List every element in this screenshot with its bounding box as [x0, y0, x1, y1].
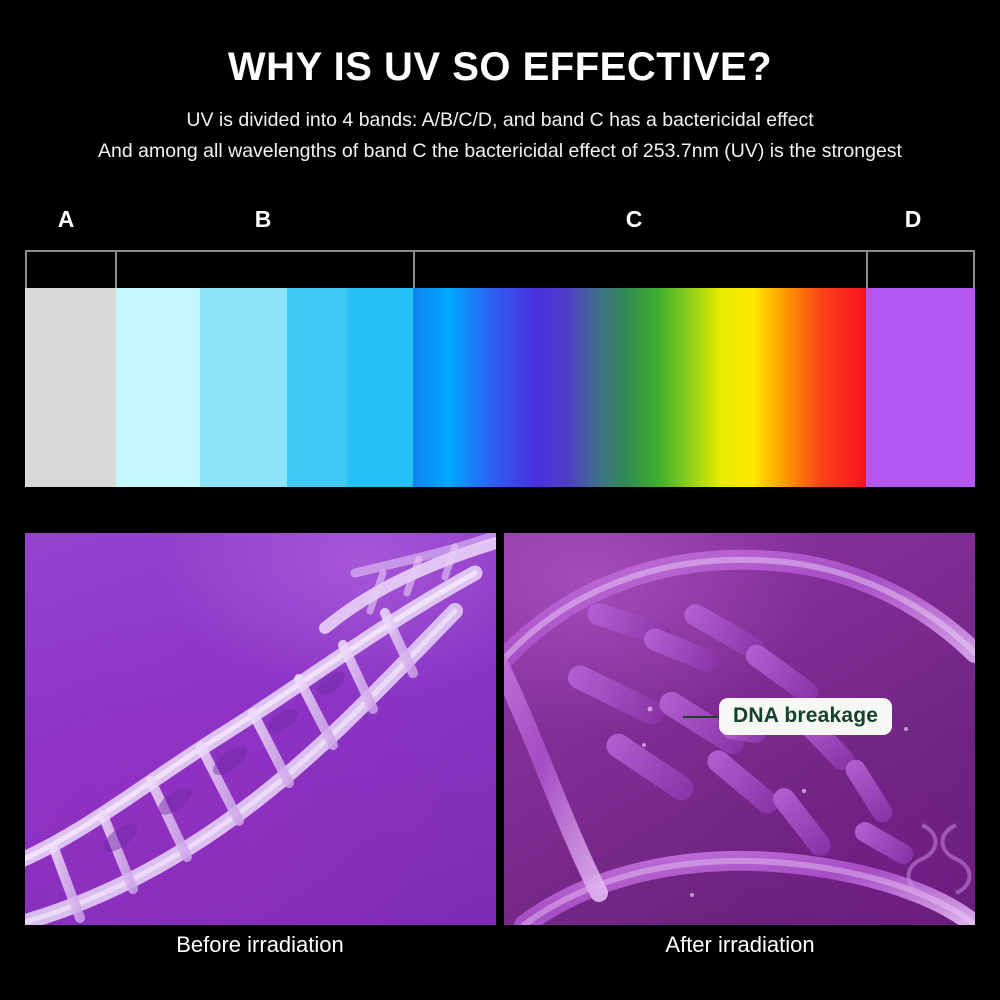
band-cell-a [25, 252, 115, 290]
caption-after-irradiation: After irradiation [665, 932, 814, 958]
spectrum-segment-uvb-bright-blue [347, 288, 413, 487]
panel-before-irradiation [25, 533, 496, 925]
subtitle-line-1: UV is divided into 4 bands: A/B/C/D, and… [0, 88, 1000, 134]
spectrum-segment-uva-gray [25, 288, 116, 487]
subtitle-line-2: And among all wavelengths of band C the … [0, 134, 1000, 165]
band-label-c: C [626, 206, 643, 233]
spectrum-segment-uvb-sky-blue [287, 288, 347, 487]
spectrum-segment-uvd-purple [866, 288, 975, 487]
band-label-row: ABCD [0, 206, 1000, 244]
band-cell-b [115, 252, 413, 290]
band-bracket-frame [25, 250, 975, 288]
band-label-a: A [58, 206, 75, 233]
band-cell-d [866, 252, 975, 290]
band-cell-c [413, 252, 866, 290]
page-title: WHY IS UV SO EFFECTIVE? [0, 0, 1000, 88]
spectrum-segment-uvb-pale-cyan [116, 288, 200, 487]
band-label-b: B [255, 206, 272, 233]
header: WHY IS UV SO EFFECTIVE? UV is divided in… [0, 0, 1000, 166]
caption-before-irradiation: Before irradiation [176, 932, 344, 958]
spectrum-bar [25, 288, 975, 487]
spectrum-segment-uvb-light-blue [200, 288, 287, 487]
dna-breakage-badge: DNA breakage [719, 698, 892, 735]
dna-helix-intact [25, 533, 496, 925]
band-label-d: D [905, 206, 922, 233]
spectrum-segment-uvc-rainbow [413, 288, 866, 487]
dna-breakage-leader-line [683, 716, 723, 718]
